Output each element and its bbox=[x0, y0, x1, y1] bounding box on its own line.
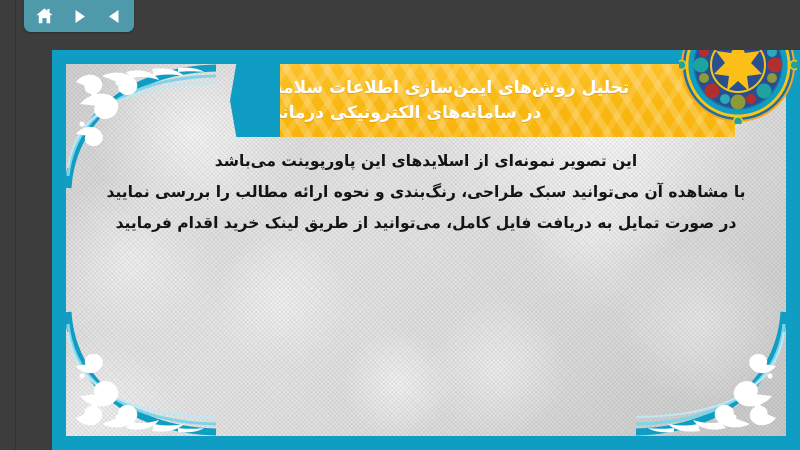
body-line-3: در صورت تمایل به دریافت فایل کامل، می‌تو… bbox=[96, 208, 756, 239]
forward-triangle-icon[interactable] bbox=[66, 4, 92, 28]
presentation-viewer: این تصویر نمونه‌ای از اسلایدهای این پاور… bbox=[0, 0, 800, 450]
filigree-corner-ornament bbox=[636, 304, 786, 436]
slide-body-text: این تصویر نمونه‌ای از اسلایدهای این پاور… bbox=[96, 146, 756, 239]
body-line-2: با مشاهده آن می‌توانید سبک طراحی، رنگ‌بن… bbox=[96, 177, 756, 208]
title-line-2: در سامانه‌های الکترونیکی درمانی bbox=[265, 101, 541, 126]
title-line-1: تحلیل روش‌های ایمن‌سازی اطلاعات سلامت bbox=[265, 76, 629, 101]
body-line-1: این تصویر نمونه‌ای از اسلایدهای این پاور… bbox=[96, 146, 756, 177]
filigree-corner-ornament bbox=[66, 304, 216, 436]
home-icon[interactable] bbox=[31, 4, 57, 28]
slide-title-banner: تحلیل روش‌های ایمن‌سازی اطلاعات سلامت در… bbox=[265, 64, 735, 137]
slide-navigation-bar bbox=[24, 0, 134, 32]
chrome-seam-divider bbox=[15, 0, 16, 450]
back-triangle-icon[interactable] bbox=[101, 4, 127, 28]
title-ribbon-edge bbox=[265, 64, 280, 137]
slide-canvas: این تصویر نمونه‌ای از اسلایدهای این پاور… bbox=[52, 50, 800, 450]
